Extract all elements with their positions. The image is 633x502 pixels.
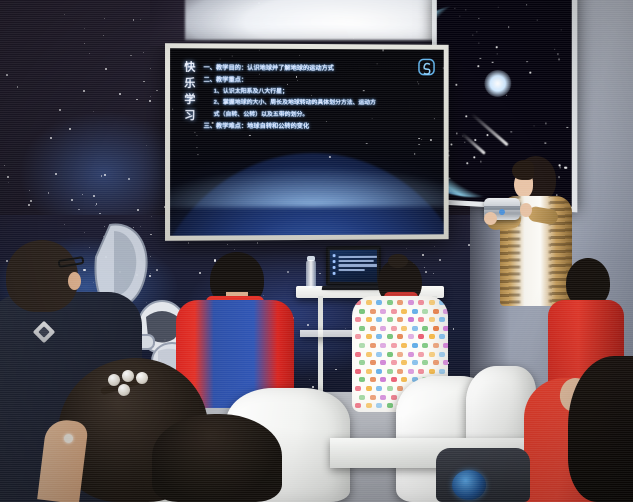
vtitle-char-1: 快 (184, 62, 195, 73)
slide-vertical-title: 快 乐 学 习 (184, 62, 195, 235)
presenter-fringe (512, 160, 534, 180)
laptop-screen-row-2 (338, 260, 373, 262)
laptop-list-icon-3 (333, 266, 336, 269)
projector-lens-icon (499, 209, 505, 215)
photo-scene: 快 乐 学 习 一、教学目的：认识地球并了解地球的运动方式 二、教学重点： 1、… (0, 0, 633, 502)
laptop-list-icon-2 (333, 260, 336, 263)
projection-screen: 快 乐 学 习 一、教学目的：认识地球并了解地球的运动方式 二、教学重点： 1、… (165, 43, 449, 241)
slide-line-1: 一、教学目的：认识地球并了解地球的运动方式 (204, 65, 432, 73)
laptop-screen-row-1 (338, 256, 377, 258)
projected-slide: 快 乐 学 习 一、教学目的：认识地球并了解地球的运动方式 二、教学重点： 1、… (170, 48, 444, 235)
vtitle-char-2: 乐 (184, 79, 195, 90)
slide-line-5: 式（自转、公转）以及五带的划分。 (214, 111, 432, 118)
slide-line-2: 二、教学重点： (204, 76, 432, 84)
presenter-laptop[interactable] (326, 246, 381, 287)
slide-line-4: 2、掌握地球的大小、周长及地球转动的具体划分方法、运动方 (214, 100, 432, 107)
slide-line-3: 1、认识太阳系及八大行星； (214, 88, 432, 96)
presenter-left-hand (484, 212, 497, 225)
pearl-bead (108, 374, 120, 386)
presenter-right-hand (520, 203, 532, 217)
vtitle-char-4: 习 (184, 111, 195, 122)
blue-swirl-logo-icon (418, 59, 435, 76)
laptop-screen-row-3 (338, 264, 377, 266)
laptop-screen-row-4 (338, 269, 364, 271)
projector-lens-foreground-icon (452, 470, 486, 500)
girl-hair-bun (388, 254, 408, 268)
laptop-screen (330, 250, 377, 282)
desk-leg-left (318, 296, 323, 392)
star-projector-foreground (436, 448, 530, 502)
pearl-bead (136, 372, 148, 384)
slide-body: 一、教学目的：认识地球并了解地球的运动方式 二、教学重点： 1、认识太阳系及八大… (204, 63, 432, 236)
ring-icon (64, 434, 73, 443)
vtitle-char-3: 学 (184, 95, 195, 106)
laptop-keyboard-base[interactable] (322, 286, 385, 290)
pearl-bead (122, 370, 134, 382)
adult-head (6, 240, 78, 312)
pearl-bead (118, 384, 130, 396)
mural-light-flare (484, 70, 511, 97)
laptop-list-icon-4 (333, 272, 336, 275)
adult-ear (68, 272, 81, 290)
laptop-list-icon-1 (333, 254, 336, 257)
child-foreground-left (152, 414, 282, 502)
slide-content: 快 乐 学 习 一、教学目的：认识地球并了解地球的运动方式 二、教学重点： 1、… (170, 48, 444, 235)
slide-line-6: 三、教学难点：地球自转和公转的变化 (204, 123, 432, 131)
water-bottle (306, 260, 316, 288)
